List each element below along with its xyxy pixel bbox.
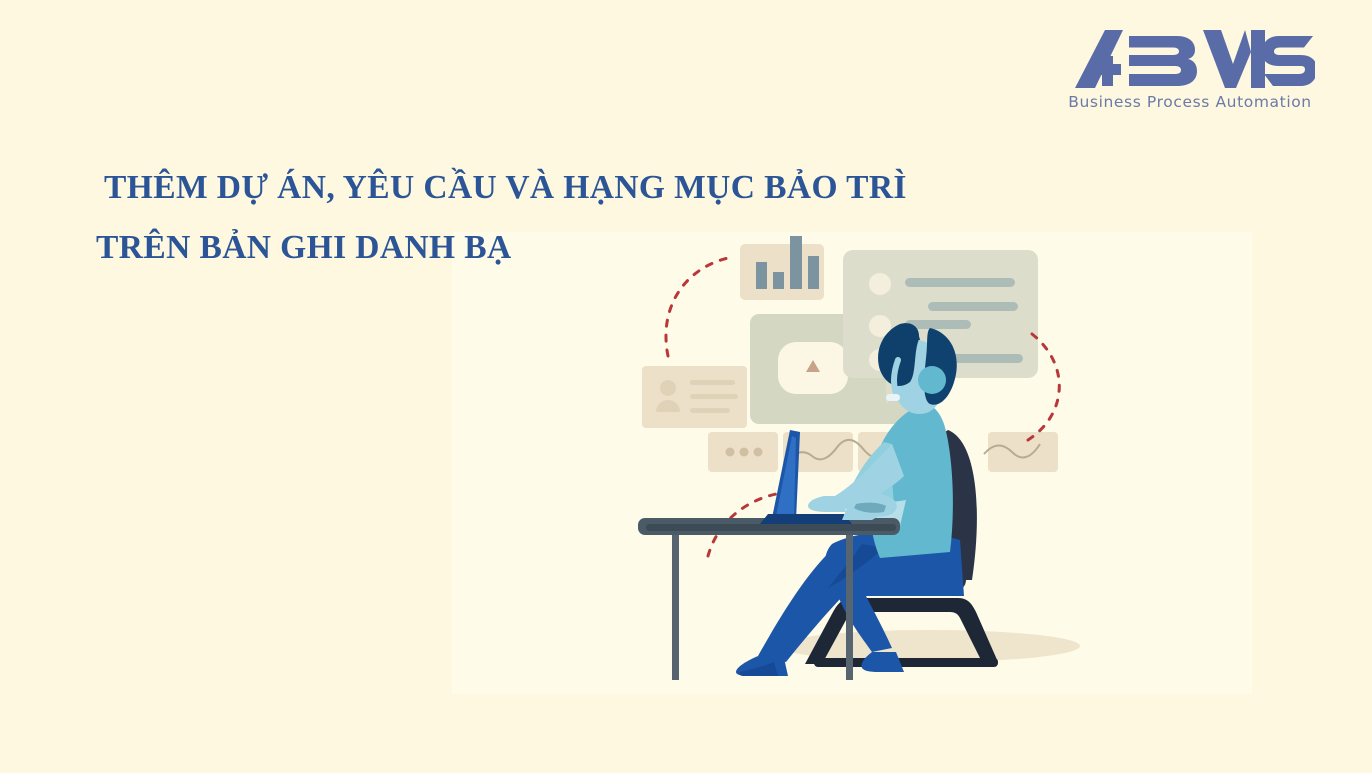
abms-wordmark-icon <box>1065 28 1315 90</box>
hero-illustration <box>600 228 1160 708</box>
bar-chart-card <box>740 236 824 300</box>
dashed-arrow-left <box>666 258 728 356</box>
brand-logo: Business Process Automation <box>1060 28 1320 111</box>
person-upper-body <box>808 405 953 558</box>
logo-tagline: Business Process Automation <box>1060 93 1320 111</box>
slide-canvas: Business Process Automation THÊM DỰ ÁN, … <box>0 0 1372 773</box>
page-title-line-1: THÊM DỰ ÁN, YÊU CẦU VÀ HẠNG MỤC BẢO TRÌ <box>96 158 996 218</box>
person-head <box>878 323 957 414</box>
dots-card <box>708 432 778 472</box>
workspace-illustration-icon <box>600 228 1160 708</box>
contact-card <box>642 366 747 428</box>
